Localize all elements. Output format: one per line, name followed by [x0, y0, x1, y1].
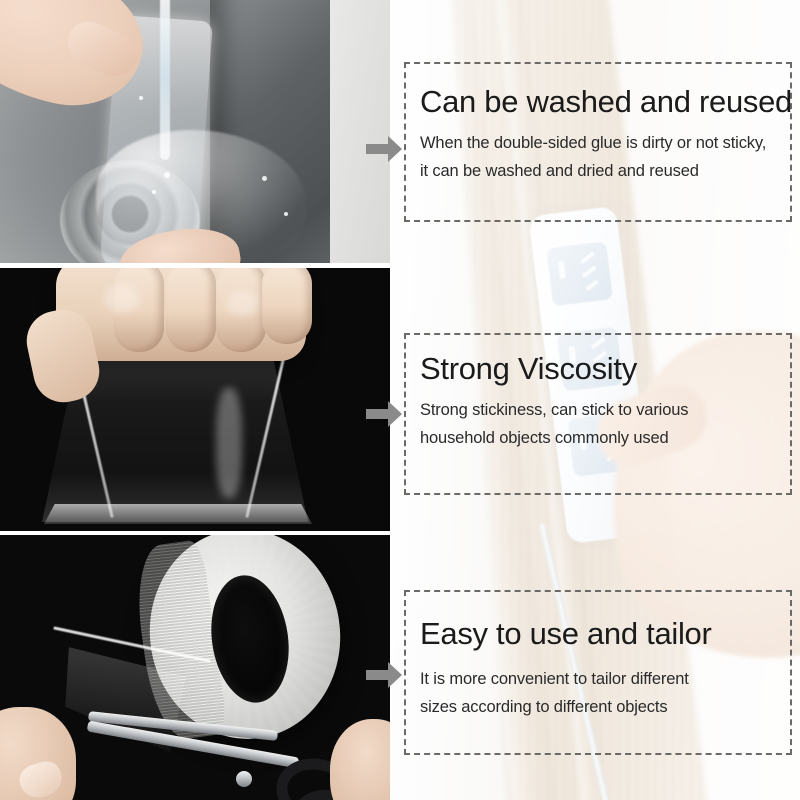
water-droplet — [164, 172, 170, 178]
feature-description-line: sizes according to different objects — [420, 693, 770, 722]
kitchen-counter — [330, 0, 390, 263]
feature-title: Easy to use and tailor — [420, 618, 770, 651]
arrow-head — [388, 662, 402, 688]
arrow-shaft — [366, 144, 390, 154]
feature-callout-viscosity: Strong Viscosity Strong stickiness, can … — [404, 333, 792, 495]
feature-description: It is more convenient to tailor differen… — [420, 665, 770, 723]
arrow-head — [388, 136, 402, 162]
right-hand — [330, 719, 390, 800]
photo-washing-tape-under-faucet — [0, 0, 390, 263]
tape-highlight — [104, 284, 140, 312]
arrow-head — [388, 401, 402, 427]
water-droplet — [139, 96, 143, 100]
scissor-pivot — [236, 771, 252, 787]
photo-stretching-tape — [0, 268, 390, 531]
feature-callout-washable: Can be washed and reused When the double… — [404, 62, 792, 222]
product-feature-poster: Can be washed and reused When the double… — [0, 0, 800, 800]
water-droplet — [284, 212, 288, 216]
feature-description-line: When the double-sided glue is dirty or n… — [420, 129, 770, 158]
feature-description-line: it can be washed and dried and reused — [420, 157, 770, 186]
feature-description-line: It is more convenient to tailor differen… — [420, 665, 770, 694]
tape-base-strip — [44, 504, 312, 524]
feature-description-line: Strong stickiness, can stick to various — [420, 396, 770, 425]
feature-title: Can be washed and reused — [420, 86, 770, 119]
water-droplet — [152, 190, 156, 194]
knuckle — [262, 268, 312, 344]
feature-title: Strong Viscosity — [420, 353, 770, 386]
feature-description-line: household objects commonly used — [420, 424, 770, 453]
water-droplet — [262, 176, 267, 181]
arrow-shaft — [366, 409, 390, 419]
tape-highlight — [226, 290, 258, 316]
feature-description: When the double-sided glue is dirty or n… — [420, 129, 770, 187]
feature-callout-tailor: Easy to use and tailor It is more conven… — [404, 590, 792, 755]
tape-highlight — [216, 388, 242, 498]
right-arrow-icon — [366, 136, 402, 162]
arrow-shaft — [366, 670, 390, 680]
right-arrow-icon — [366, 662, 402, 688]
knuckle — [166, 268, 216, 352]
feature-description: Strong stickiness, can stick to various … — [420, 396, 770, 454]
right-arrow-icon — [366, 401, 402, 427]
photo-cutting-tape-with-scissors — [0, 535, 390, 800]
